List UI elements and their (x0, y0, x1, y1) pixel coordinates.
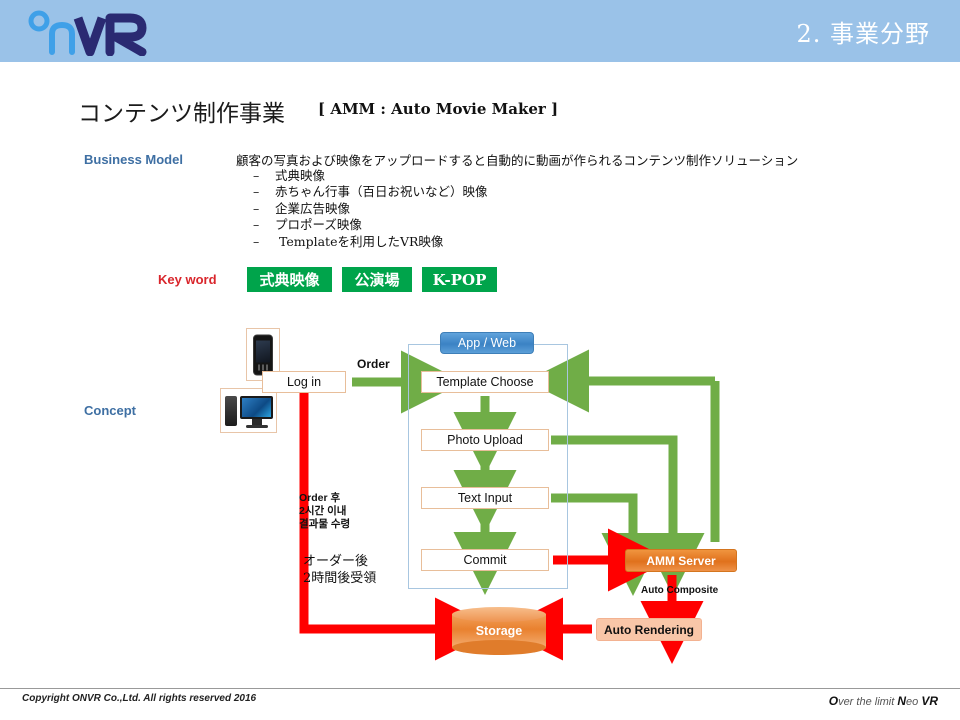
list-item-label: プロポーズ映像 (275, 217, 362, 232)
note-korean-line: 결과물 수령 (299, 518, 350, 531)
section-label-concept: Concept (84, 403, 136, 418)
keyword-tag: 式典映像 (247, 267, 332, 292)
list-item: –赤ちゃん行事（百日お祝いなど）映像 (253, 184, 488, 200)
list-item-label: 企業広告映像 (275, 201, 350, 216)
storage-cylinder: Storage (452, 607, 546, 655)
pc-tower-icon (225, 396, 237, 426)
list-item-label: Templateを利用したVR映像 (275, 234, 443, 249)
bullet-dash-icon: – (253, 184, 275, 200)
note-japanese-line: 2時間後受領 (303, 570, 376, 587)
business-model-lead-text: 顧客の写真および映像をアップロードすると自動的に動画が作られるコンテンツ制作ソリ… (236, 150, 798, 169)
tagline-text-2: eo (906, 696, 921, 708)
arrow-photo-upload-to-server (551, 440, 673, 542)
flow-box-photo-upload[interactable]: Photo Upload (421, 429, 549, 451)
list-item-label: 赤ちゃん行事（百日お祝いなど）映像 (275, 184, 488, 199)
flow-box-amm-server[interactable]: AMM Server (625, 549, 737, 572)
storage-label: Storage (452, 607, 546, 655)
bullet-dash-icon: – (253, 234, 275, 250)
bullet-dash-icon: – (253, 201, 275, 217)
tagline-text-1: ver the limit (838, 696, 897, 708)
keyword-tag: K-POP (422, 267, 497, 292)
note-korean-line: 2시간 이내 (299, 505, 350, 518)
smartphone-icon (253, 334, 273, 375)
list-item: –プロポーズ映像 (253, 217, 488, 233)
footer-copyright: Copyright ONVR Co.,Ltd. All rights reser… (22, 693, 256, 704)
flow-box-template-choose[interactable]: Template Choose (421, 371, 549, 393)
flow-box-text-input[interactable]: Text Input (421, 487, 549, 509)
pc-screen (242, 398, 271, 417)
footer-tagline: Over the limit Neo VR (829, 694, 938, 708)
tagline-o: O (829, 694, 838, 708)
onvr-logo (26, 8, 156, 56)
desktop-pc-icon (225, 394, 274, 429)
list-item: –式典映像 (253, 168, 488, 184)
list-item: – Templateを利用したVR映像 (253, 234, 488, 250)
header-section-title: 2. 事業分野 (796, 14, 930, 49)
page-title: コンテンツ制作事業 (78, 94, 285, 128)
list-item-label: 式典映像 (275, 168, 325, 183)
pc-monitor-icon (240, 396, 273, 419)
tagline-vr: VR (921, 694, 938, 708)
flow-box-auto-rendering[interactable]: Auto Rendering (596, 618, 702, 641)
section-label-business-model: Business Model (84, 152, 183, 167)
device-desktop-pc-image (220, 388, 277, 433)
flow-box-commit[interactable]: Commit (421, 549, 549, 571)
page-subtitle: [ AMM : Auto Movie Maker ] (318, 100, 558, 118)
keyword-tag: 公演場 (342, 267, 412, 292)
bullet-dash-icon: – (253, 168, 275, 184)
note-japanese-line: オーダー後 (303, 553, 376, 570)
list-item: –企業広告映像 (253, 201, 488, 217)
caption-auto-composite: Auto Composite (641, 585, 718, 596)
footer-divider (0, 688, 960, 689)
header-band: 2. 事業分野 (0, 0, 960, 62)
business-model-list: –式典映像 –赤ちゃん行事（百日お祝いなど）映像 –企業広告映像 –プロポーズ映… (253, 168, 488, 250)
appweb-badge: App / Web (440, 332, 534, 354)
flow-box-login[interactable]: Log in (262, 371, 346, 393)
tagline-n: N (897, 694, 906, 708)
section-label-keyword: Key word (158, 272, 217, 287)
caption-order: Order (357, 357, 390, 371)
note-korean-line: Order 후 (299, 492, 350, 505)
pc-base (246, 425, 268, 428)
note-japanese: オーダー後 2時間後受領 (303, 553, 376, 587)
note-korean: Order 후 2시간 이내 결과물 수령 (299, 492, 350, 531)
bullet-dash-icon: – (253, 217, 275, 233)
